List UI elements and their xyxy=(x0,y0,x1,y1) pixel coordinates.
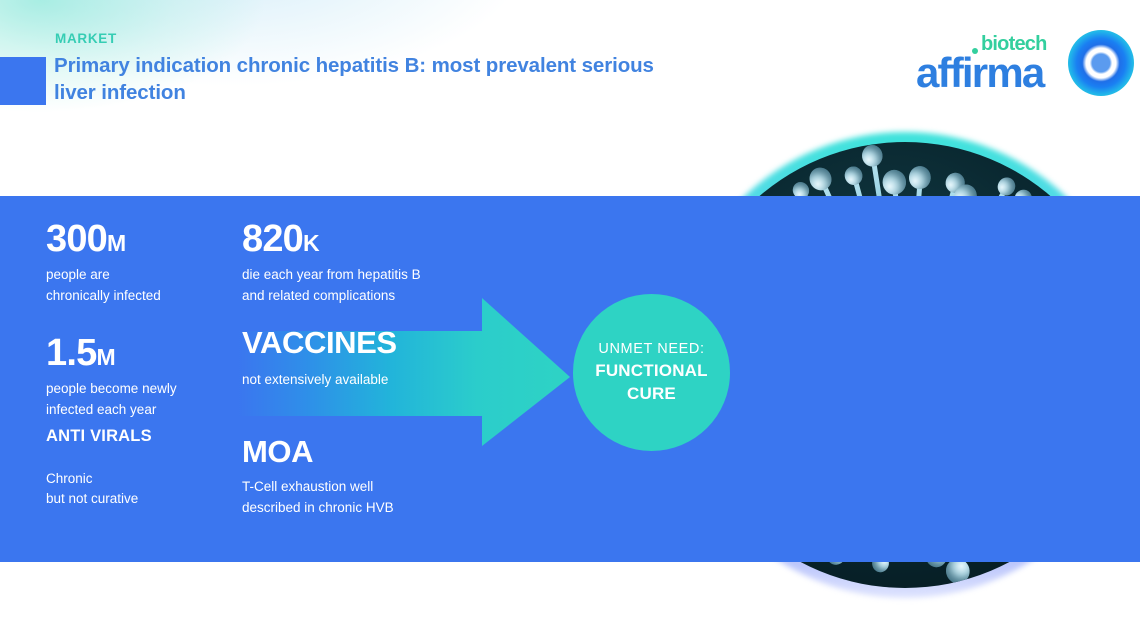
stat-moa-desc: T-Cell exhaustion well described in chro… xyxy=(242,477,394,518)
stat-1-5m-value: 1.5M xyxy=(46,334,177,372)
unmet-need-line2: FUNCTIONAL xyxy=(595,360,707,383)
stat-300m: 300M people are chronically infected xyxy=(46,220,161,306)
stat-anti-virals-desc: Chronic but not curative xyxy=(46,469,152,510)
header-accent-block xyxy=(0,57,46,105)
stat-820k: 820K die each year from hepatitis B and … xyxy=(242,220,421,306)
stat-1-5m: 1.5M people become newly infected each y… xyxy=(46,334,177,420)
stat-moa: MOA T-Cell exhaustion well described in … xyxy=(242,436,394,518)
eyebrow-label: MARKET xyxy=(55,31,117,46)
stat-300m-desc: people are chronically infected xyxy=(46,265,161,306)
stat-1-5m-unit: M xyxy=(96,344,115,370)
stats-grid: 300M people are chronically infected 1.5… xyxy=(0,196,560,562)
page-title: Primary indication chronic hepatitis B: … xyxy=(54,52,674,107)
stat-820k-desc: die each year from hepatitis B and relat… xyxy=(242,265,421,306)
stat-1-5m-number: 1.5 xyxy=(46,332,96,374)
stat-1-5m-desc: people become newly infected each year xyxy=(46,379,177,420)
unmet-need-line1: UNMET NEED: xyxy=(598,339,704,361)
stat-300m-value: 300M xyxy=(46,220,161,258)
stat-moa-heading: MOA xyxy=(242,436,394,467)
concentric-ring-icon xyxy=(1068,30,1134,96)
unmet-need-line3: CURE xyxy=(627,383,676,406)
stat-820k-unit: K xyxy=(303,230,319,256)
stat-vaccines: VACCINES not extensively available xyxy=(242,327,397,391)
stat-820k-value: 820K xyxy=(242,220,421,258)
stat-anti-virals: ANTI VIRALS Chronic but not curative xyxy=(46,428,152,510)
brand-logo[interactable]: biotech affirma xyxy=(916,22,1126,98)
stat-vaccines-desc: not extensively available xyxy=(242,370,397,391)
stat-820k-number: 820 xyxy=(242,218,303,260)
slide-root: MARKET Primary indication chronic hepati… xyxy=(0,0,1140,641)
stat-300m-number: 300 xyxy=(46,218,107,260)
logo-wordmark: affirma xyxy=(916,52,1043,94)
stat-300m-unit: M xyxy=(107,230,126,256)
unmet-need-badge[interactable]: UNMET NEED: FUNCTIONAL CURE xyxy=(573,294,730,451)
stat-anti-virals-heading: ANTI VIRALS xyxy=(46,428,152,445)
stat-vaccines-heading: VACCINES xyxy=(242,327,397,358)
